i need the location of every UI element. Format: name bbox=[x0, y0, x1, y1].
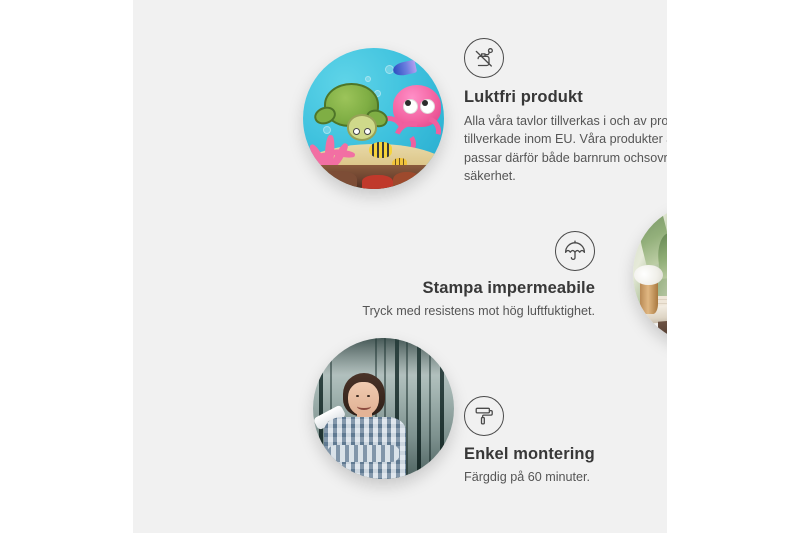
content-panel: Luktfri produkt Alla våra tavlor tillver… bbox=[133, 0, 667, 533]
feature-body: Tryck med resistens mot hög luftfuktighe… bbox=[355, 302, 595, 321]
paint-roller-icon bbox=[464, 396, 504, 436]
umbrella-icon bbox=[555, 231, 595, 271]
woman-with-paint-roller-forest-photo bbox=[313, 338, 454, 479]
feature-block-luktfri-produkt: Luktfri produkt Alla våra tavlor tillver… bbox=[464, 38, 667, 186]
feature-body: Färgdig på 60 minuter. bbox=[464, 468, 667, 487]
feature-heading: Stampa impermeabile bbox=[355, 278, 595, 299]
no-fragrance-perfume-bottle-icon bbox=[464, 38, 504, 78]
feature-block-enkel-montering: Enkel montering Färgdig på 60 minuter. bbox=[464, 396, 667, 486]
page-root: Luktfri produkt Alla våra tavlor tillver… bbox=[0, 0, 800, 533]
underwater-cartoon-scene-photo bbox=[303, 48, 444, 189]
bathroom-leaf-wallpaper-photo bbox=[633, 203, 667, 344]
feature-heading: Enkel montering bbox=[464, 444, 667, 465]
feature-block-stampa-impermeabile: Stampa impermeabile Tryck med resistens … bbox=[355, 231, 595, 320]
feature-body: Alla våra tavlor tillverkas i och av pro… bbox=[464, 112, 667, 186]
feature-heading: Luktfri produkt bbox=[464, 87, 667, 108]
